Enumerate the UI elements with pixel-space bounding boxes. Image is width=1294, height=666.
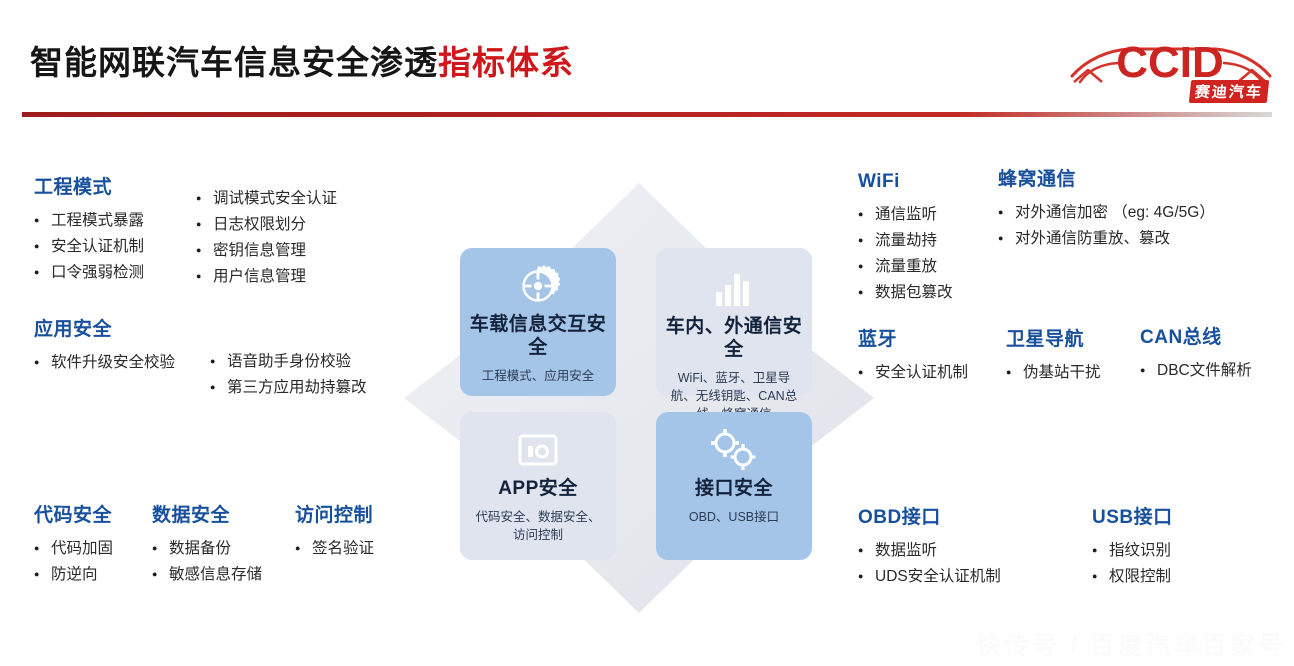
card-title: 接口安全 (656, 478, 812, 501)
page-title: 智能网联汽车信息安全渗透指标体系 (30, 46, 574, 79)
page-title-main: 智能网联汽车信息安全渗透 (30, 44, 438, 81)
bullet-item: 安全认证机制 (34, 234, 144, 260)
bullet-item: DBC文件解析 (1140, 358, 1252, 384)
bullet-list: DBC文件解析 (1140, 358, 1252, 384)
app-window-icon (460, 426, 616, 474)
group-title: 蓝牙 (858, 330, 968, 351)
group-title: 访问控制 (295, 506, 374, 527)
page-title-accent: 指标体系 (438, 44, 574, 81)
bullet-item: 第三方应用劫持篡改 (210, 375, 367, 401)
bullet-list: 通信监听流量劫持流量重放数据包篡改 (858, 202, 953, 306)
slide-header: 智能网联汽车信息安全渗透指标体系 CCID 赛迪汽车 (0, 0, 1294, 122)
bullet-item: 数据监听 (858, 538, 1001, 564)
bullet-list: 数据监听UDS安全认证机制 (858, 538, 1001, 590)
ccid-logo: CCID 赛迪汽车 (1066, 24, 1276, 108)
card-in-out-vehicle-communication-security[interactable]: 车内、外通信安全 WiFi、蓝牙、卫星导航、无线钥匙、CAN总线、蜂窝通信 (656, 248, 812, 396)
bullet-item: UDS安全认证机制 (858, 564, 1001, 590)
card-interface-security[interactable]: 接口安全 OBD、USB接口 (656, 412, 812, 560)
bullet-list: 软件升级安全校验 (34, 350, 175, 376)
bullet-item: 流量重放 (858, 254, 953, 280)
bullet-item: 指纹识别 (1092, 538, 1173, 564)
group-engineering-mode-col2: 调试模式安全认证日志权限划分密钥信息管理用户信息管理 (196, 186, 337, 290)
bullet-item: 防逆向 (34, 562, 113, 588)
bullet-item: 语音助手身份校验 (210, 349, 367, 375)
bullet-item: 签名验证 (295, 536, 374, 562)
group-code-security: 代码安全 代码加固防逆向 (34, 506, 113, 588)
card-vehicle-info-interaction-security[interactable]: 车载信息交互安全 工程模式、应用安全 (460, 248, 616, 396)
group-application-security: 应用安全 软件升级安全校验 (34, 320, 175, 376)
group-wifi: WiFi 通信监听流量劫持流量重放数据包篡改 (858, 172, 953, 306)
group-title: USB接口 (1092, 508, 1173, 529)
bullet-list: 工程模式暴露安全认证机制口令强弱检测 (34, 208, 144, 286)
group-title: 应用安全 (34, 320, 175, 341)
bullet-list: 调试模式安全认证日志权限划分密钥信息管理用户信息管理 (196, 186, 337, 290)
bullet-item: 安全认证机制 (858, 360, 968, 386)
bullet-item: 权限控制 (1092, 564, 1173, 590)
bullet-list: 指纹识别权限控制 (1092, 538, 1173, 590)
logo-subtitle: 赛迪汽车 (1189, 80, 1269, 103)
bullet-item: 调试模式安全认证 (196, 186, 337, 212)
group-title: 卫星导航 (1006, 330, 1101, 351)
bullet-list: 数据备份敏感信息存储 (152, 536, 262, 588)
group-title: OBD接口 (858, 508, 1001, 529)
bullet-item: 通信监听 (858, 202, 953, 228)
bullet-item: 日志权限划分 (196, 212, 337, 238)
card-app-security[interactable]: APP安全 代码安全、数据安全、访问控制 (460, 412, 616, 560)
bullet-item: 工程模式暴露 (34, 208, 144, 234)
bullet-item: 用户信息管理 (196, 264, 337, 290)
slide-canvas: 智能网联汽车信息安全渗透指标体系 CCID 赛迪汽车 (0, 0, 1294, 666)
group-title: 数据安全 (152, 506, 262, 527)
gear-icon (460, 262, 616, 310)
bullet-list: 伪基站干扰 (1006, 360, 1101, 386)
bullet-item: 伪基站干扰 (1006, 360, 1101, 386)
bullet-list: 签名验证 (295, 536, 374, 562)
card-subtitle: 工程模式、应用安全 (460, 367, 616, 385)
group-application-security-col2: 语音助手身份校验第三方应用劫持篡改 (210, 349, 367, 401)
bullet-item: 对外通信加密 （eg: 4G/5G） (998, 200, 1215, 226)
watermark: 快传号 / 百度汽车百家号 (976, 626, 1286, 662)
card-subtitle: 代码安全、数据安全、访问控制 (460, 508, 616, 544)
group-title: 蜂窝通信 (998, 170, 1215, 191)
group-cellular-communication: 蜂窝通信 对外通信加密 （eg: 4G/5G）对外通信防重放、篡改 (998, 170, 1215, 252)
bullet-item: 口令强弱检测 (34, 260, 144, 286)
card-title: 车内、外通信安全 (656, 316, 812, 362)
group-obd-interface: OBD接口 数据监听UDS安全认证机制 (858, 508, 1001, 590)
group-access-control: 访问控制 签名验证 (295, 506, 374, 562)
bullet-item: 密钥信息管理 (196, 238, 337, 264)
bullet-item: 代码加固 (34, 536, 113, 562)
bullet-list: 安全认证机制 (858, 360, 968, 386)
group-data-security: 数据安全 数据备份敏感信息存储 (152, 506, 262, 588)
bullet-list: 代码加固防逆向 (34, 536, 113, 588)
signal-bars-icon (656, 264, 812, 312)
group-title: CAN总线 (1140, 328, 1252, 349)
group-satellite-navigation: 卫星导航 伪基站干扰 (1006, 330, 1101, 386)
group-title: 代码安全 (34, 506, 113, 527)
bullet-item: 数据备份 (152, 536, 262, 562)
group-bluetooth: 蓝牙 安全认证机制 (858, 330, 968, 386)
bullet-list: 对外通信加密 （eg: 4G/5G）对外通信防重放、篡改 (998, 200, 1215, 252)
bullet-item: 数据包篡改 (858, 280, 953, 306)
group-engineering-mode: 工程模式 工程模式暴露安全认证机制口令强弱检测 (34, 178, 144, 286)
card-subtitle: OBD、USB接口 (656, 508, 812, 526)
group-usb-interface: USB接口 指纹识别权限控制 (1092, 508, 1173, 590)
double-gear-icon (656, 426, 812, 474)
header-divider (22, 112, 1272, 117)
bullet-list: 语音助手身份校验第三方应用劫持篡改 (210, 349, 367, 401)
card-title: 车载信息交互安全 (460, 314, 616, 360)
group-title: 工程模式 (34, 178, 144, 199)
card-title: APP安全 (460, 478, 616, 501)
group-can-bus: CAN总线 DBC文件解析 (1140, 328, 1252, 384)
bullet-item: 软件升级安全校验 (34, 350, 175, 376)
bullet-item: 敏感信息存储 (152, 562, 262, 588)
group-title: WiFi (858, 172, 953, 193)
bullet-item: 流量劫持 (858, 228, 953, 254)
bullet-item: 对外通信防重放、篡改 (998, 226, 1215, 252)
